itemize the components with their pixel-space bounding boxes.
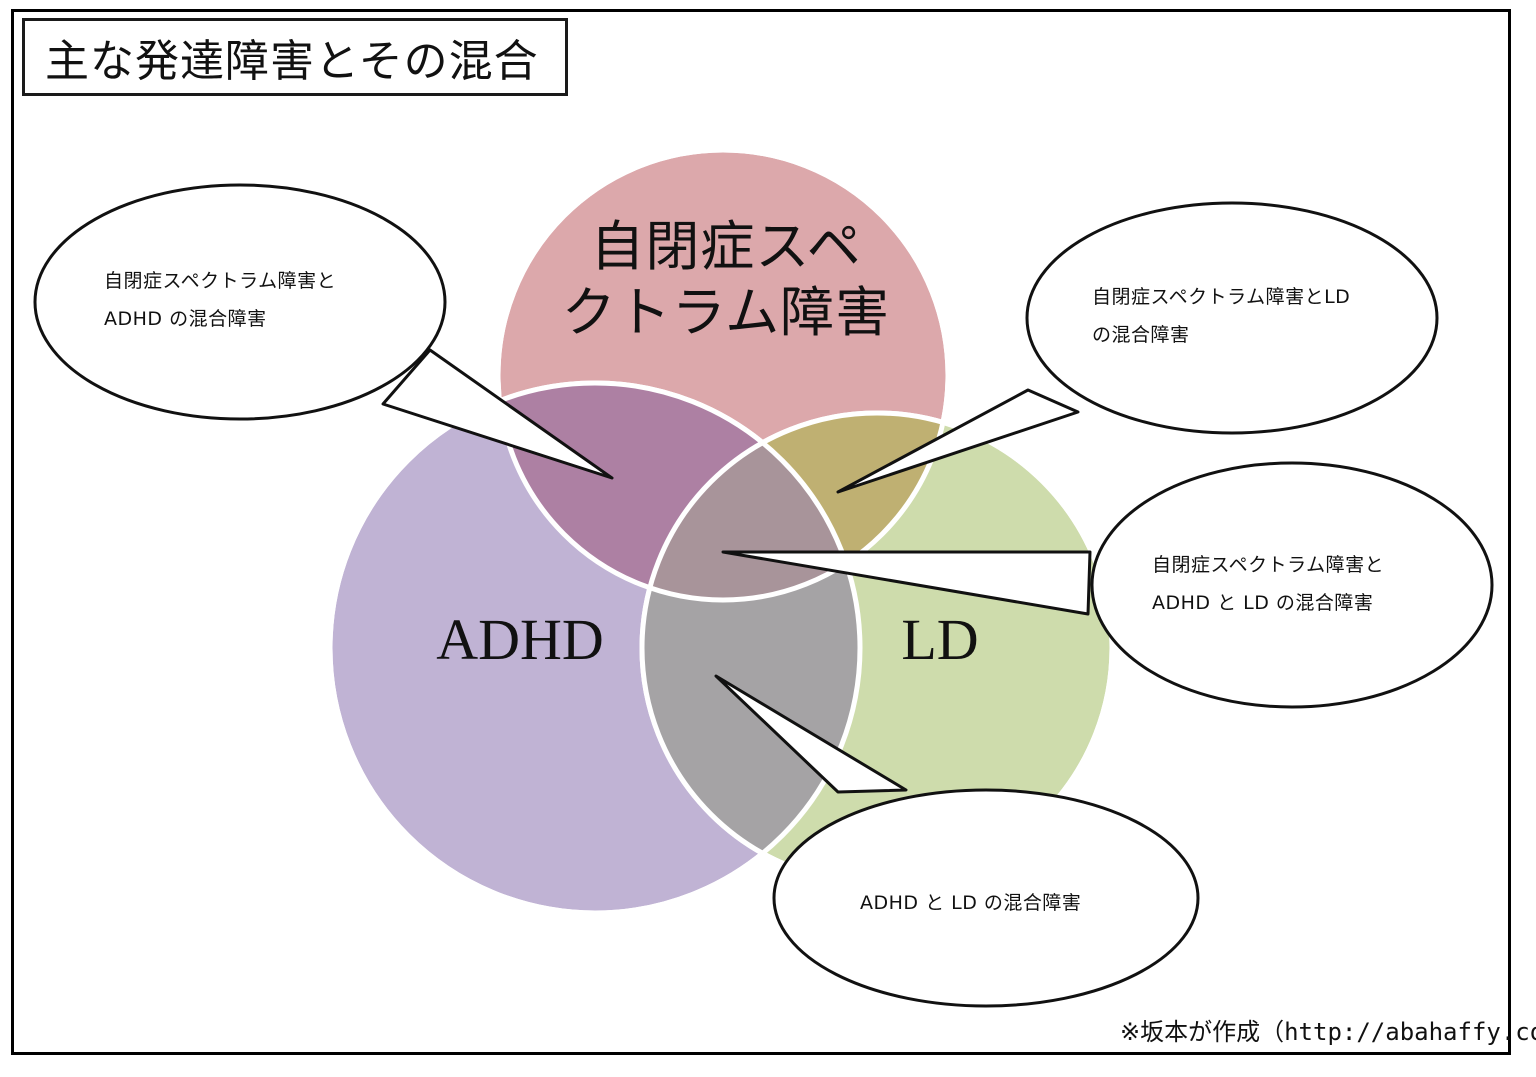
venn-diagram [0, 0, 1536, 1077]
callout-bubble-all-three [1092, 463, 1492, 707]
callout-bubble-asd-ld [1027, 203, 1437, 433]
diagram-canvas: 主な発達障害とその混合 [0, 0, 1536, 1077]
callout-bubble-asd-adhd [35, 185, 445, 419]
credit-line: ※坂本が作成（http://abahaffy.com/） [1120, 1012, 1536, 1047]
callout-bubble-adhd-ld [774, 790, 1198, 1006]
credit-url: （http://abahaffy.com/） [1260, 1018, 1536, 1046]
credit-author: ※坂本が作成 [1120, 1018, 1260, 1046]
